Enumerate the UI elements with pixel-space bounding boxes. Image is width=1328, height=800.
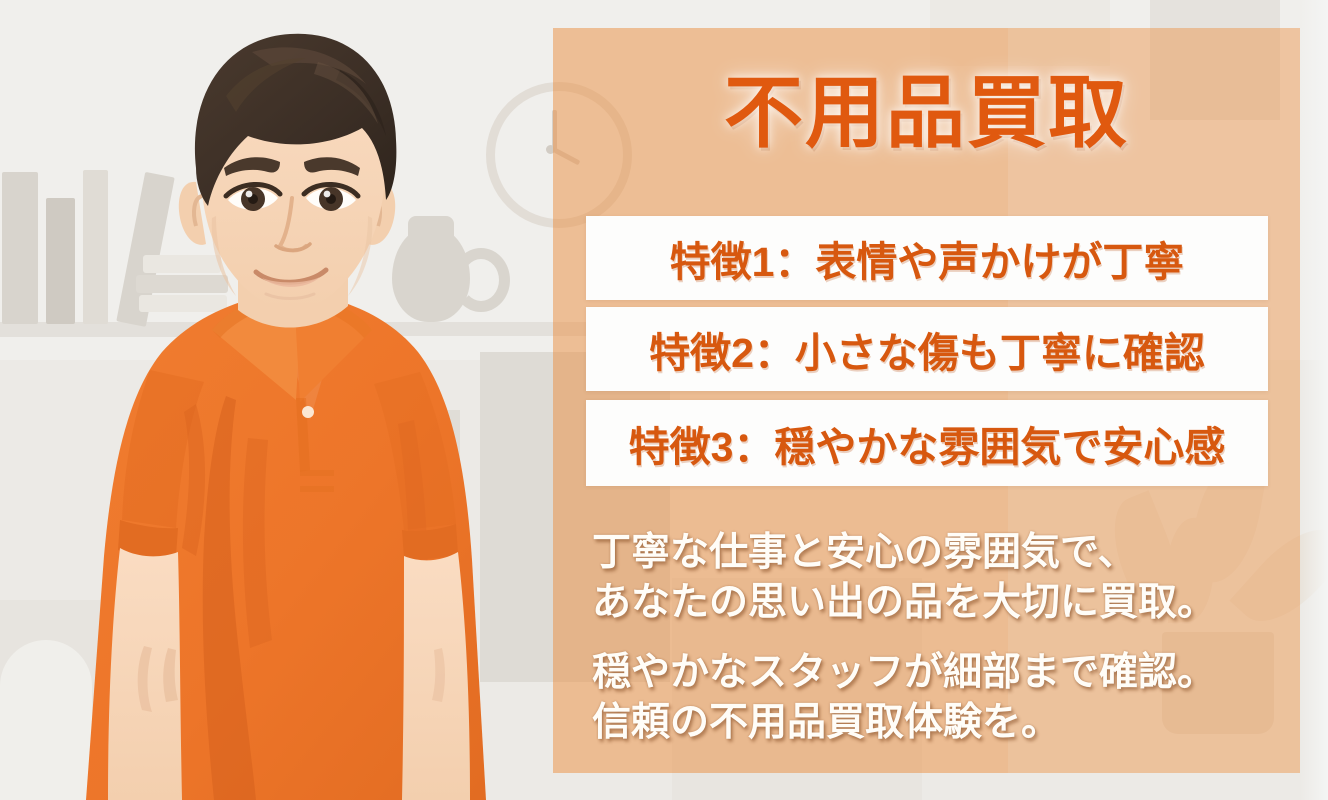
feature-bar-1: 特徴1：表情や声かけが丁寧 [586,216,1268,300]
page-title: 不用品買取 [553,70,1300,155]
staff-illustration [0,0,560,800]
feature-label-2: 特徴2：小さな傷も丁寧に確認 [586,319,1268,379]
feature-bar-3: 特徴3：穏やかな雰囲気で安心感 [586,400,1268,486]
right-edge-fade [1300,0,1328,800]
feature-label-3: 特徴3：穏やかな雰囲気で安心感 [586,413,1268,473]
feature-bar-2: 特徴2：小さな傷も丁寧に確認 [586,307,1268,391]
feature-label-1: 特徴1：表情や声かけが丁寧 [586,228,1268,288]
body-paragraph-2: 穏やかなスタッフが細部まで確認。 信頼の不用品買取体験を。 [592,648,1292,748]
poster-canvas: 不用品買取 特徴1：表情や声かけが丁寧 特徴2：小さな傷も丁寧に確認 特徴3：穏… [0,0,1328,800]
body-paragraph-1: 丁寧な仕事と安心の雰囲気で、 あなたの思い出の品を大切に買取。 [592,528,1292,628]
head [179,34,397,310]
polo-button [302,406,314,418]
